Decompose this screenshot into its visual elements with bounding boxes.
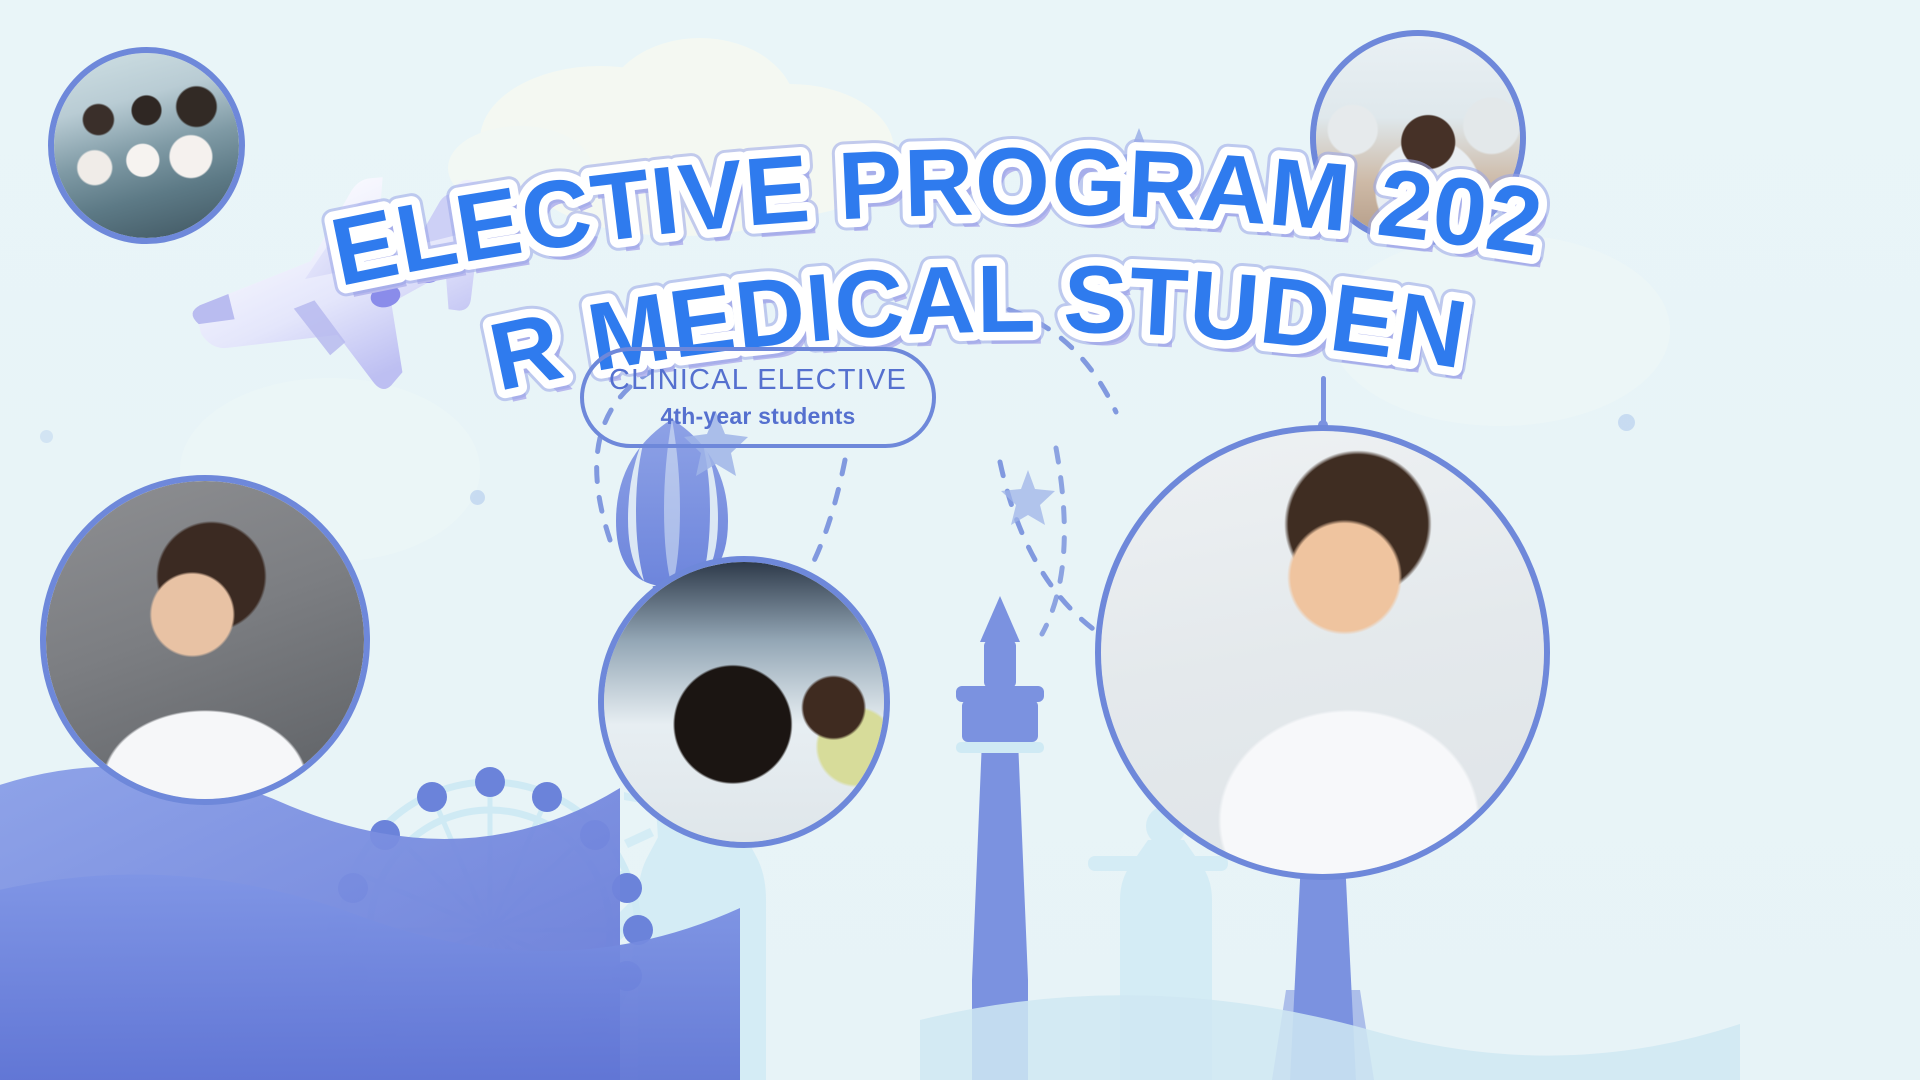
photo-left (40, 475, 370, 805)
photo-center (598, 556, 890, 848)
star-icon (1102, 128, 1176, 203)
elective-program-banner: ELECTIVE PROGRAM 2024 ELECTIVE PROGRAM 2… (0, 0, 1920, 1080)
decor-dot (1618, 414, 1635, 431)
badge-subtitle: 4th-year students (660, 403, 855, 430)
photo-right (1095, 425, 1550, 880)
photo-topleft (48, 47, 245, 244)
clinical-elective-badge: CLINICAL ELECTIVE 4th-year students (580, 347, 936, 448)
cloud-icon (448, 38, 894, 236)
star-icon (1001, 470, 1055, 525)
decor-dot (470, 490, 485, 505)
photo-topright (1310, 30, 1526, 246)
badge-title: CLINICAL ELECTIVE (609, 365, 907, 395)
decor-dot (40, 430, 53, 443)
